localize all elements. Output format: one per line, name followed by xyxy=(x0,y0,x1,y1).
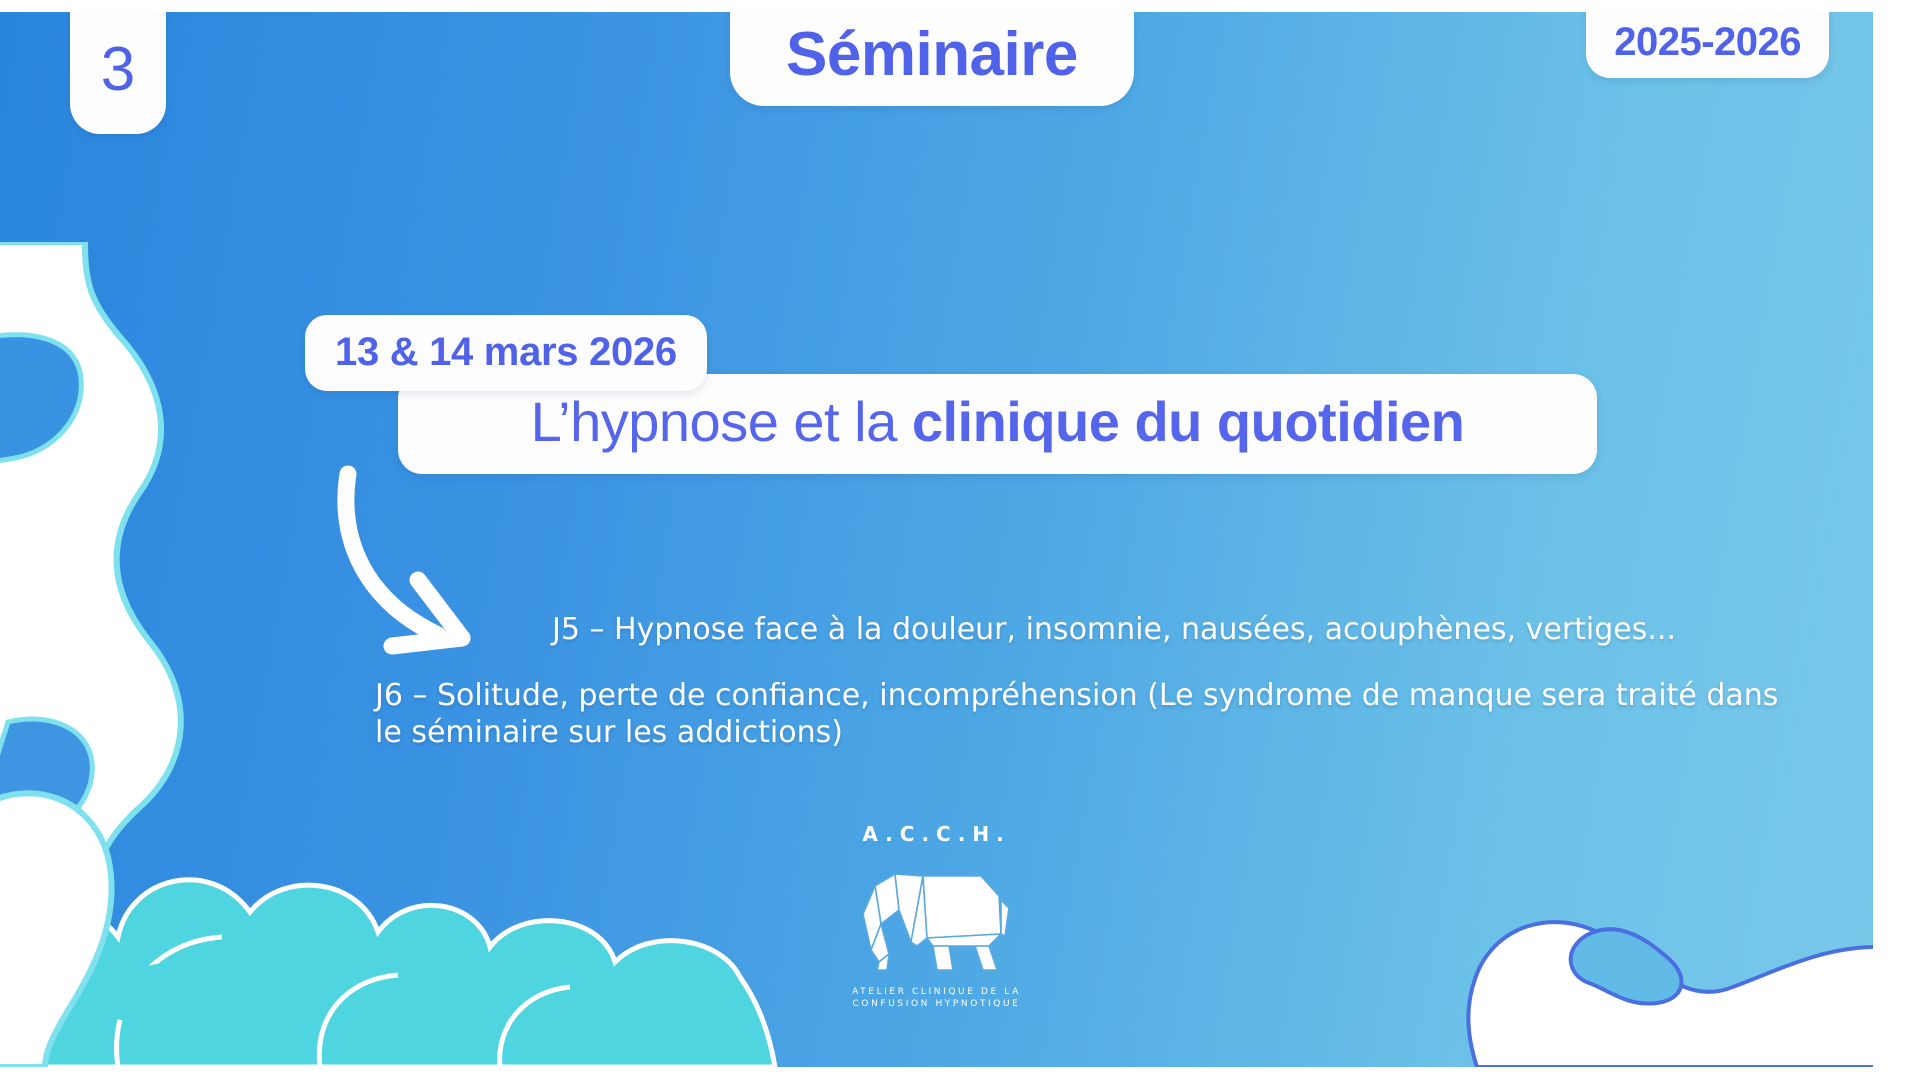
left-ribbon-decoration xyxy=(0,242,290,942)
session-line-j6: J6 – Solitude, perte de confiance, incom… xyxy=(375,678,1795,751)
slide: 3 Séminaire 2025-2026 13 & 14 mars 2026 … xyxy=(0,0,1920,1080)
slide-number-badge: 3 xyxy=(70,12,166,134)
seminar-title-card: Séminaire xyxy=(730,12,1134,106)
headline: L’hypnose et la clinique du quotidien xyxy=(428,392,1567,452)
bottom-right-blob-decoration xyxy=(1457,807,1873,1067)
curved-arrow-icon xyxy=(330,460,550,670)
background-panel: 3 Séminaire 2025-2026 13 & 14 mars 2026 … xyxy=(0,12,1873,1067)
year-range-badge: 2025-2026 xyxy=(1586,12,1829,78)
origami-elephant-icon xyxy=(849,850,1024,980)
logo-tagline-line-2: CONFUSION HYPNOTIQUE xyxy=(822,998,1052,1010)
date-card: 13 & 14 mars 2026 xyxy=(305,315,707,391)
year-range: 2025-2026 xyxy=(1614,22,1801,62)
headline-light-part: L’hypnose et la xyxy=(531,390,912,453)
logo-tagline-line-1: ATELIER CLINIQUE DE LA xyxy=(822,986,1052,998)
bottom-left-clouds-decoration xyxy=(0,737,780,1067)
logo-acronym: A.C.C.H. xyxy=(822,822,1052,846)
session-line-j5: J5 – Hypnose face à la douleur, insomnie… xyxy=(552,612,1676,649)
headline-bold-part: clinique du quotidien xyxy=(912,390,1465,453)
page-title: Séminaire xyxy=(786,24,1078,86)
slide-number: 3 xyxy=(101,39,135,101)
logo-tagline: ATELIER CLINIQUE DE LA CONFUSION HYPNOTI… xyxy=(822,986,1052,1010)
date-label: 13 & 14 mars 2026 xyxy=(335,332,677,372)
acch-logo: A.C.C.H. xyxy=(822,822,1052,1010)
